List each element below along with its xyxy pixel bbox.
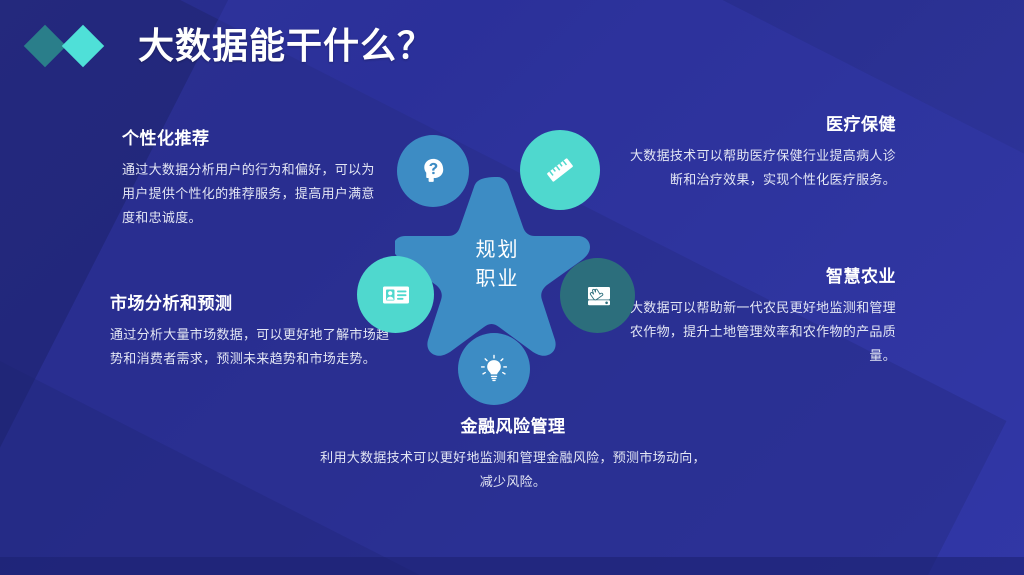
diamond-dark-icon (24, 25, 66, 67)
background-bottom-strip (0, 557, 1024, 575)
slide-canvas: 大数据能干什么？ 个性化推荐 通过大数据分析用户的行为和偏好，可以为用户提供个性… (0, 0, 1024, 575)
node-ruler[interactable] (520, 130, 600, 210)
title-row: 大数据能干什么？ (30, 28, 434, 64)
ruler-icon (543, 153, 577, 187)
question-head-icon (418, 156, 448, 186)
node-question-head[interactable] (397, 135, 469, 207)
node-touch-screen[interactable] (560, 258, 635, 333)
central-graphic: 规划 职业 (340, 110, 680, 420)
node-lightbulb[interactable] (458, 333, 530, 405)
node-id-card[interactable] (357, 256, 434, 333)
diamond-bright-icon (62, 25, 104, 67)
lightbulb-icon (479, 354, 509, 384)
block-finance-risk-body: 利用大数据技术可以更好地监测和管理金融风险，预测市场动向，减少风险。 (318, 446, 708, 494)
id-card-icon (380, 279, 412, 311)
touch-screen-icon (582, 280, 614, 312)
block-finance-risk: 金融风险管理 利用大数据技术可以更好地监测和管理金融风险，预测市场动向，减少风险… (318, 412, 708, 494)
page-title: 大数据能干什么？ (138, 28, 434, 64)
